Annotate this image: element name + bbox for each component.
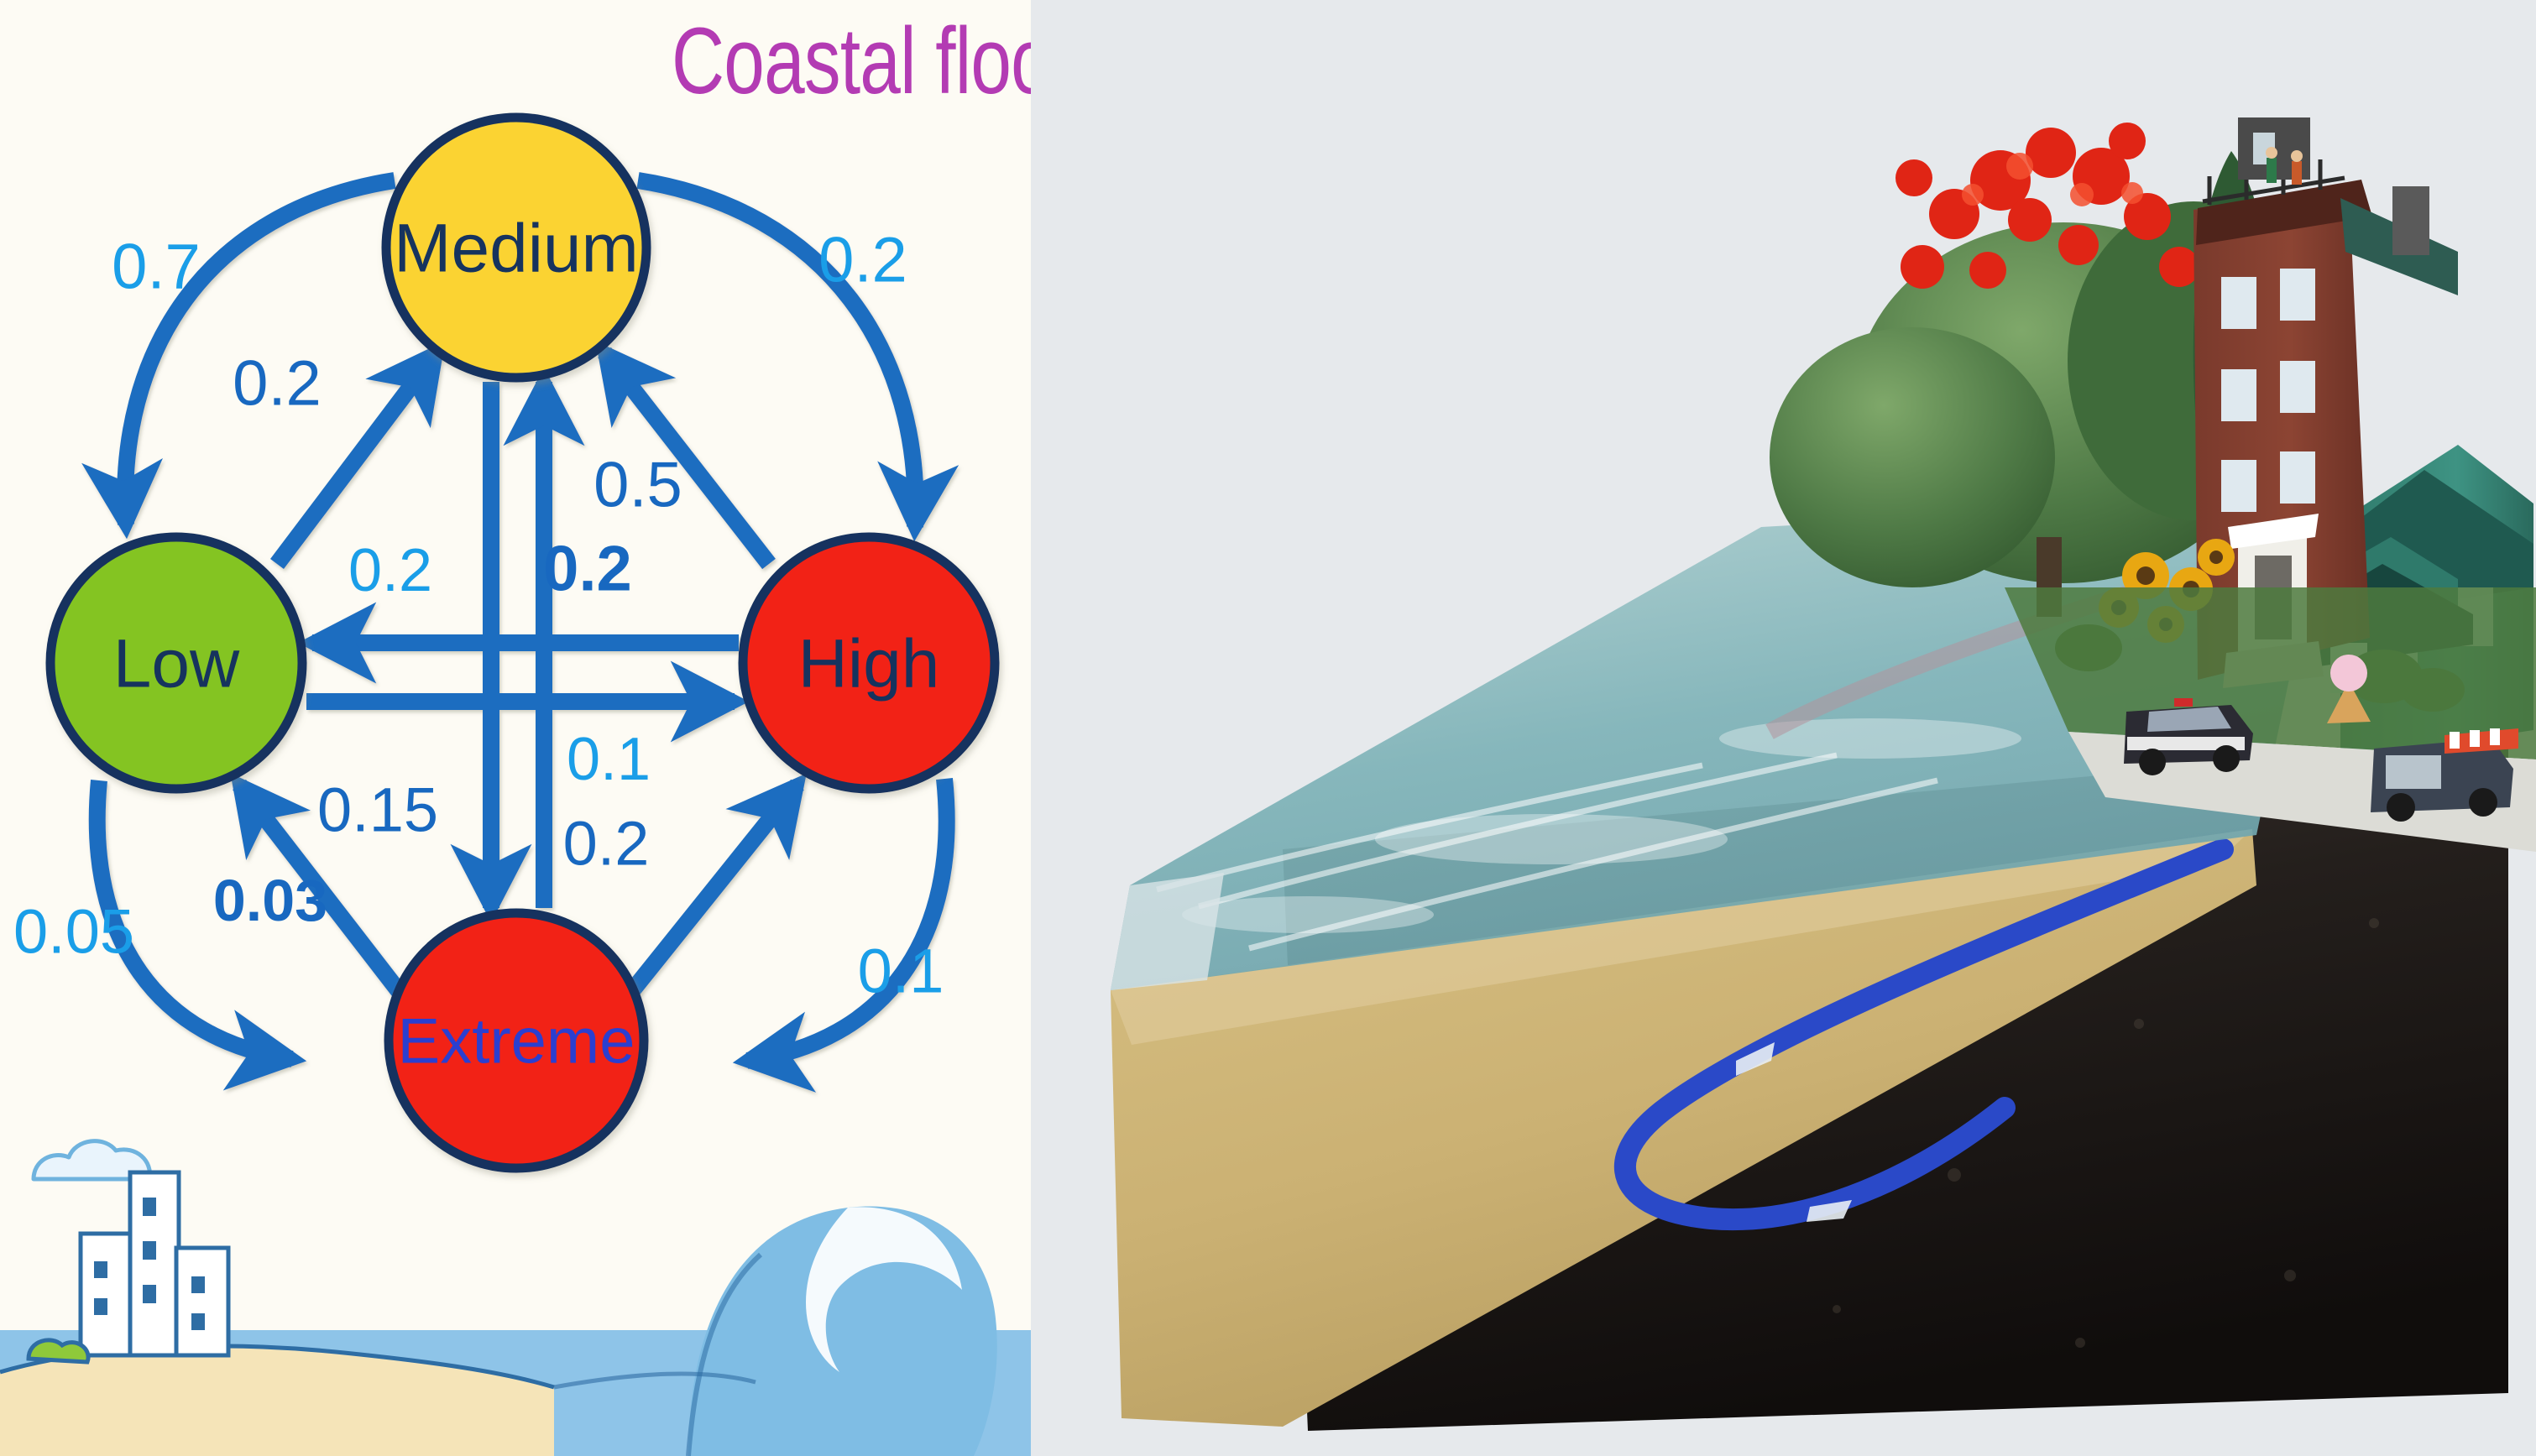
flooded-coastal-neighborhood-3d-render — [1031, 0, 2536, 1456]
page-root: Medium Low High Extreme 0.7 0.2 0.2 0.2 … — [0, 0, 2536, 1456]
wave-icon — [688, 1207, 997, 1456]
state-transition-diagram: Medium Low High Extreme 0.7 0.2 0.2 0.2 … — [0, 0, 1031, 1225]
edge-extreme-high — [631, 785, 797, 992]
diagram-panel: Medium Low High Extreme 0.7 0.2 0.2 0.2 … — [0, 0, 1031, 1456]
node-label-low: Low — [113, 626, 240, 702]
edge-label-extreme-medium: 0.2 — [348, 537, 432, 604]
edge-label-medium-high: 0.2 — [818, 225, 907, 296]
buildings-icon — [81, 1172, 228, 1355]
node-label-high: High — [798, 626, 940, 702]
edge-label-medium-extreme: 0.2 — [543, 534, 632, 605]
edge-label-low-high: 0.1 — [567, 726, 651, 793]
flood-render-panel — [1031, 0, 2536, 1456]
edge-label-high-low: 0.15 — [317, 775, 438, 845]
edge-label-high-medium: 0.5 — [593, 450, 682, 521]
page-title: Coastal flooding risk — [672, 7, 1031, 115]
edge-label-extreme-low: 0.03 — [213, 868, 327, 933]
edge-label-high-extreme: 0.1 — [858, 937, 944, 1006]
edge-label-low-medium: 0.2 — [233, 348, 322, 420]
edge-label-medium-low: 0.7 — [112, 232, 201, 303]
node-label-extreme: Extreme — [398, 1006, 635, 1078]
node-label-medium: Medium — [394, 211, 639, 287]
coastal-city-wave-illustration — [0, 1120, 1031, 1456]
edge-label-extreme-high: 0.2 — [563, 809, 650, 879]
edge-label-low-extreme: 0.05 — [13, 897, 134, 967]
bush-icon — [29, 1340, 88, 1362]
